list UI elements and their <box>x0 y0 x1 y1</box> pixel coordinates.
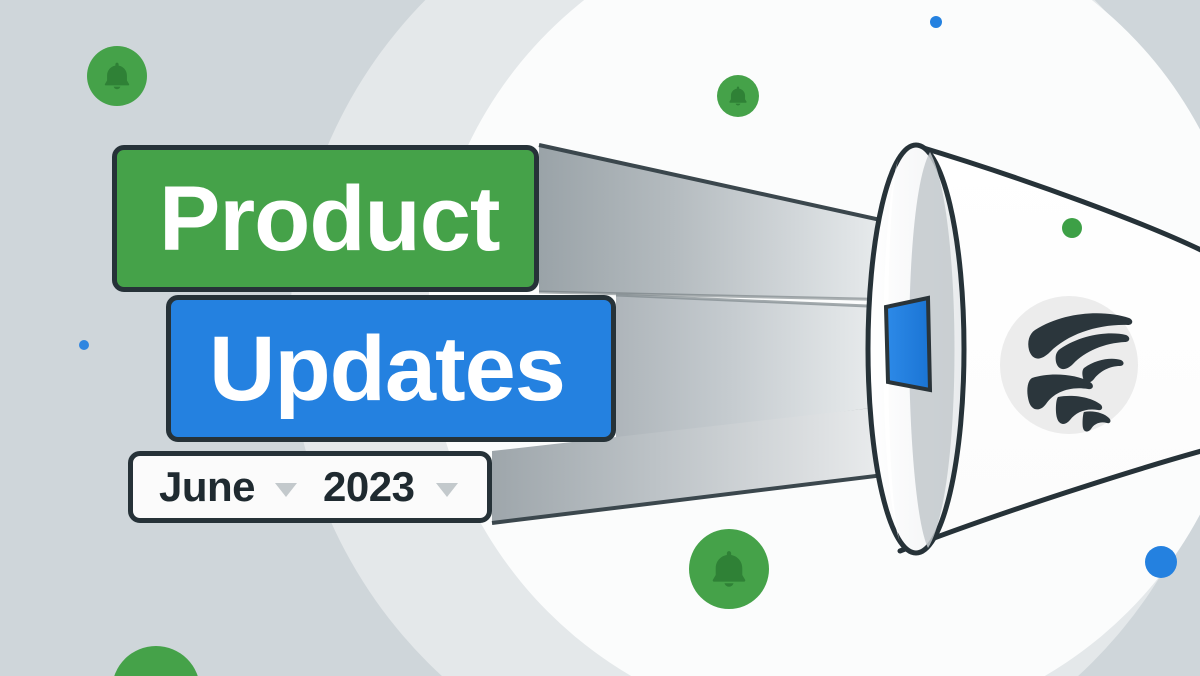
hero-headline-product: Product <box>112 145 539 292</box>
blue-dot-small-top <box>930 16 942 28</box>
notification-bell-badge-top-right <box>717 75 759 117</box>
month-value[interactable]: June <box>159 466 255 508</box>
hero-canvas: Product Updates June 2023 <box>0 0 1200 676</box>
hero-headline-updates-text: Updates <box>209 323 565 415</box>
hero-headline-product-text: Product <box>159 173 500 265</box>
notification-bell-badge-top-left <box>87 46 147 106</box>
megaphone-blue-speaker-panel <box>886 298 930 390</box>
blue-dot-large-right <box>1145 546 1177 578</box>
year-value[interactable]: 2023 <box>323 466 414 508</box>
chevron-down-icon-year[interactable] <box>436 483 458 497</box>
date-selector-chip[interactable]: June 2023 <box>128 451 492 523</box>
blue-dot-small-left <box>79 340 89 350</box>
green-dot-on-megaphone-edge <box>1062 218 1082 238</box>
notification-bell-badge-bottom <box>689 529 769 609</box>
chevron-down-icon-month[interactable] <box>275 483 297 497</box>
hero-headline-updates: Updates <box>166 295 616 442</box>
